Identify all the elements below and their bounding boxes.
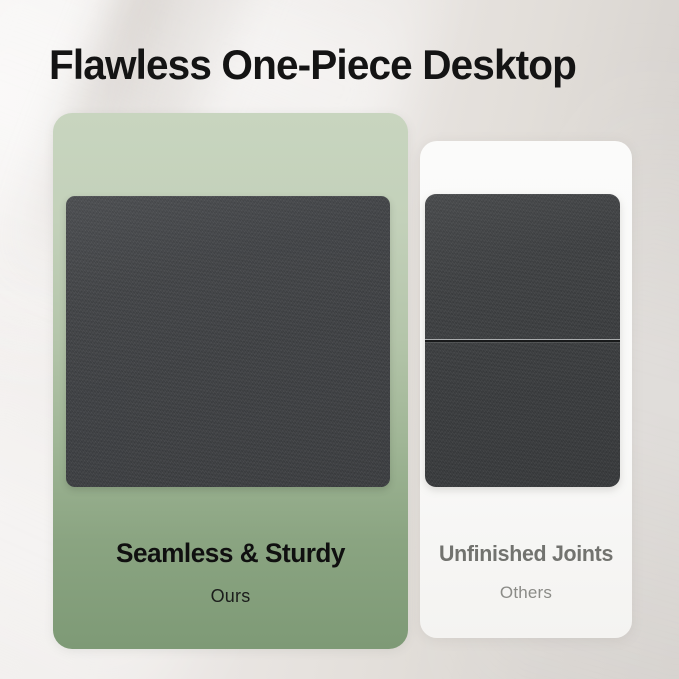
caption-headline-ours: Seamless & Sturdy: [58, 536, 402, 570]
caption-headline-others: Unfinished Joints: [423, 540, 629, 568]
seamless-desktop-surface: [66, 196, 390, 487]
joint-seam: [425, 339, 620, 343]
jointed-desktop-surface: [425, 194, 620, 487]
product-comparison-infographic: Flawless One-Piece Desktop Seamless & St…: [0, 0, 679, 679]
desktop-sheen-overlay: [66, 196, 390, 487]
joint-seam-lowlight: [425, 342, 620, 343]
caption-others: Unfinished Joints Others: [420, 540, 632, 603]
caption-sublabel-others: Others: [420, 582, 632, 603]
page-title: Flawless One-Piece Desktop: [49, 41, 576, 89]
caption-sublabel-ours: Ours: [53, 585, 408, 607]
caption-ours: Seamless & Sturdy Ours: [53, 536, 408, 607]
